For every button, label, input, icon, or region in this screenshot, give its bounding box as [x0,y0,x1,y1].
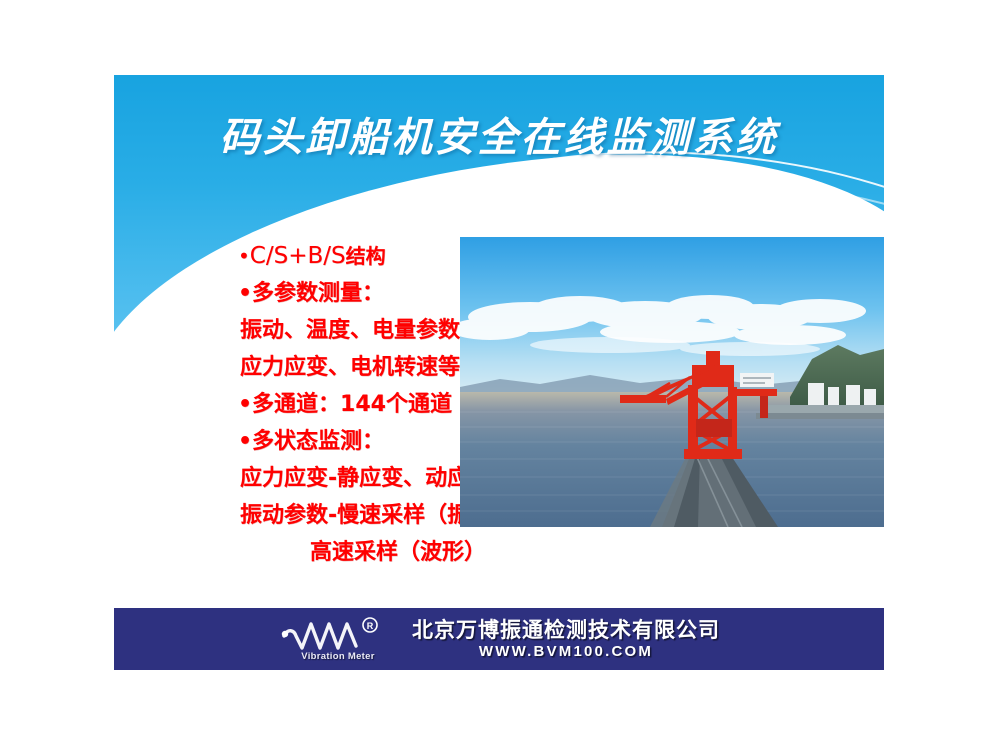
company-name: 北京万博振通检测技术有限公司 [412,618,720,643]
bullet-marker: • [238,244,250,268]
bullet-cs-bs-cjk: 结构 [346,244,386,268]
slide-title: 码头卸船机安全在线监测系统 [114,105,884,163]
logo-caption: Vibration Meter [284,651,392,662]
footer-text-group: 北京万博振通检测技术有限公司 WWW.BVM100.COM [412,618,720,661]
bullet-vibration-fast-sampling: 高速采样（波形） [238,534,598,565]
crane-photo-illustration [460,237,884,527]
svg-text:R: R [367,621,374,631]
waveform-logo-icon: R [278,616,398,656]
crane-photo [460,237,884,527]
vibration-meter-logo: R Vibration Meter [278,616,398,662]
company-website[interactable]: WWW.BVM100.COM [479,643,653,661]
footer-bar: R Vibration Meter 北京万博振通检测技术有限公司 WWW.BVM… [114,608,884,670]
bullet-cs-bs-latin: C/S+B/S [250,243,346,269]
presentation-slide: 码头卸船机安全在线监测系统 •C/S+B/S结构 •多参数测量： 振动、温度、电… [0,0,1000,750]
